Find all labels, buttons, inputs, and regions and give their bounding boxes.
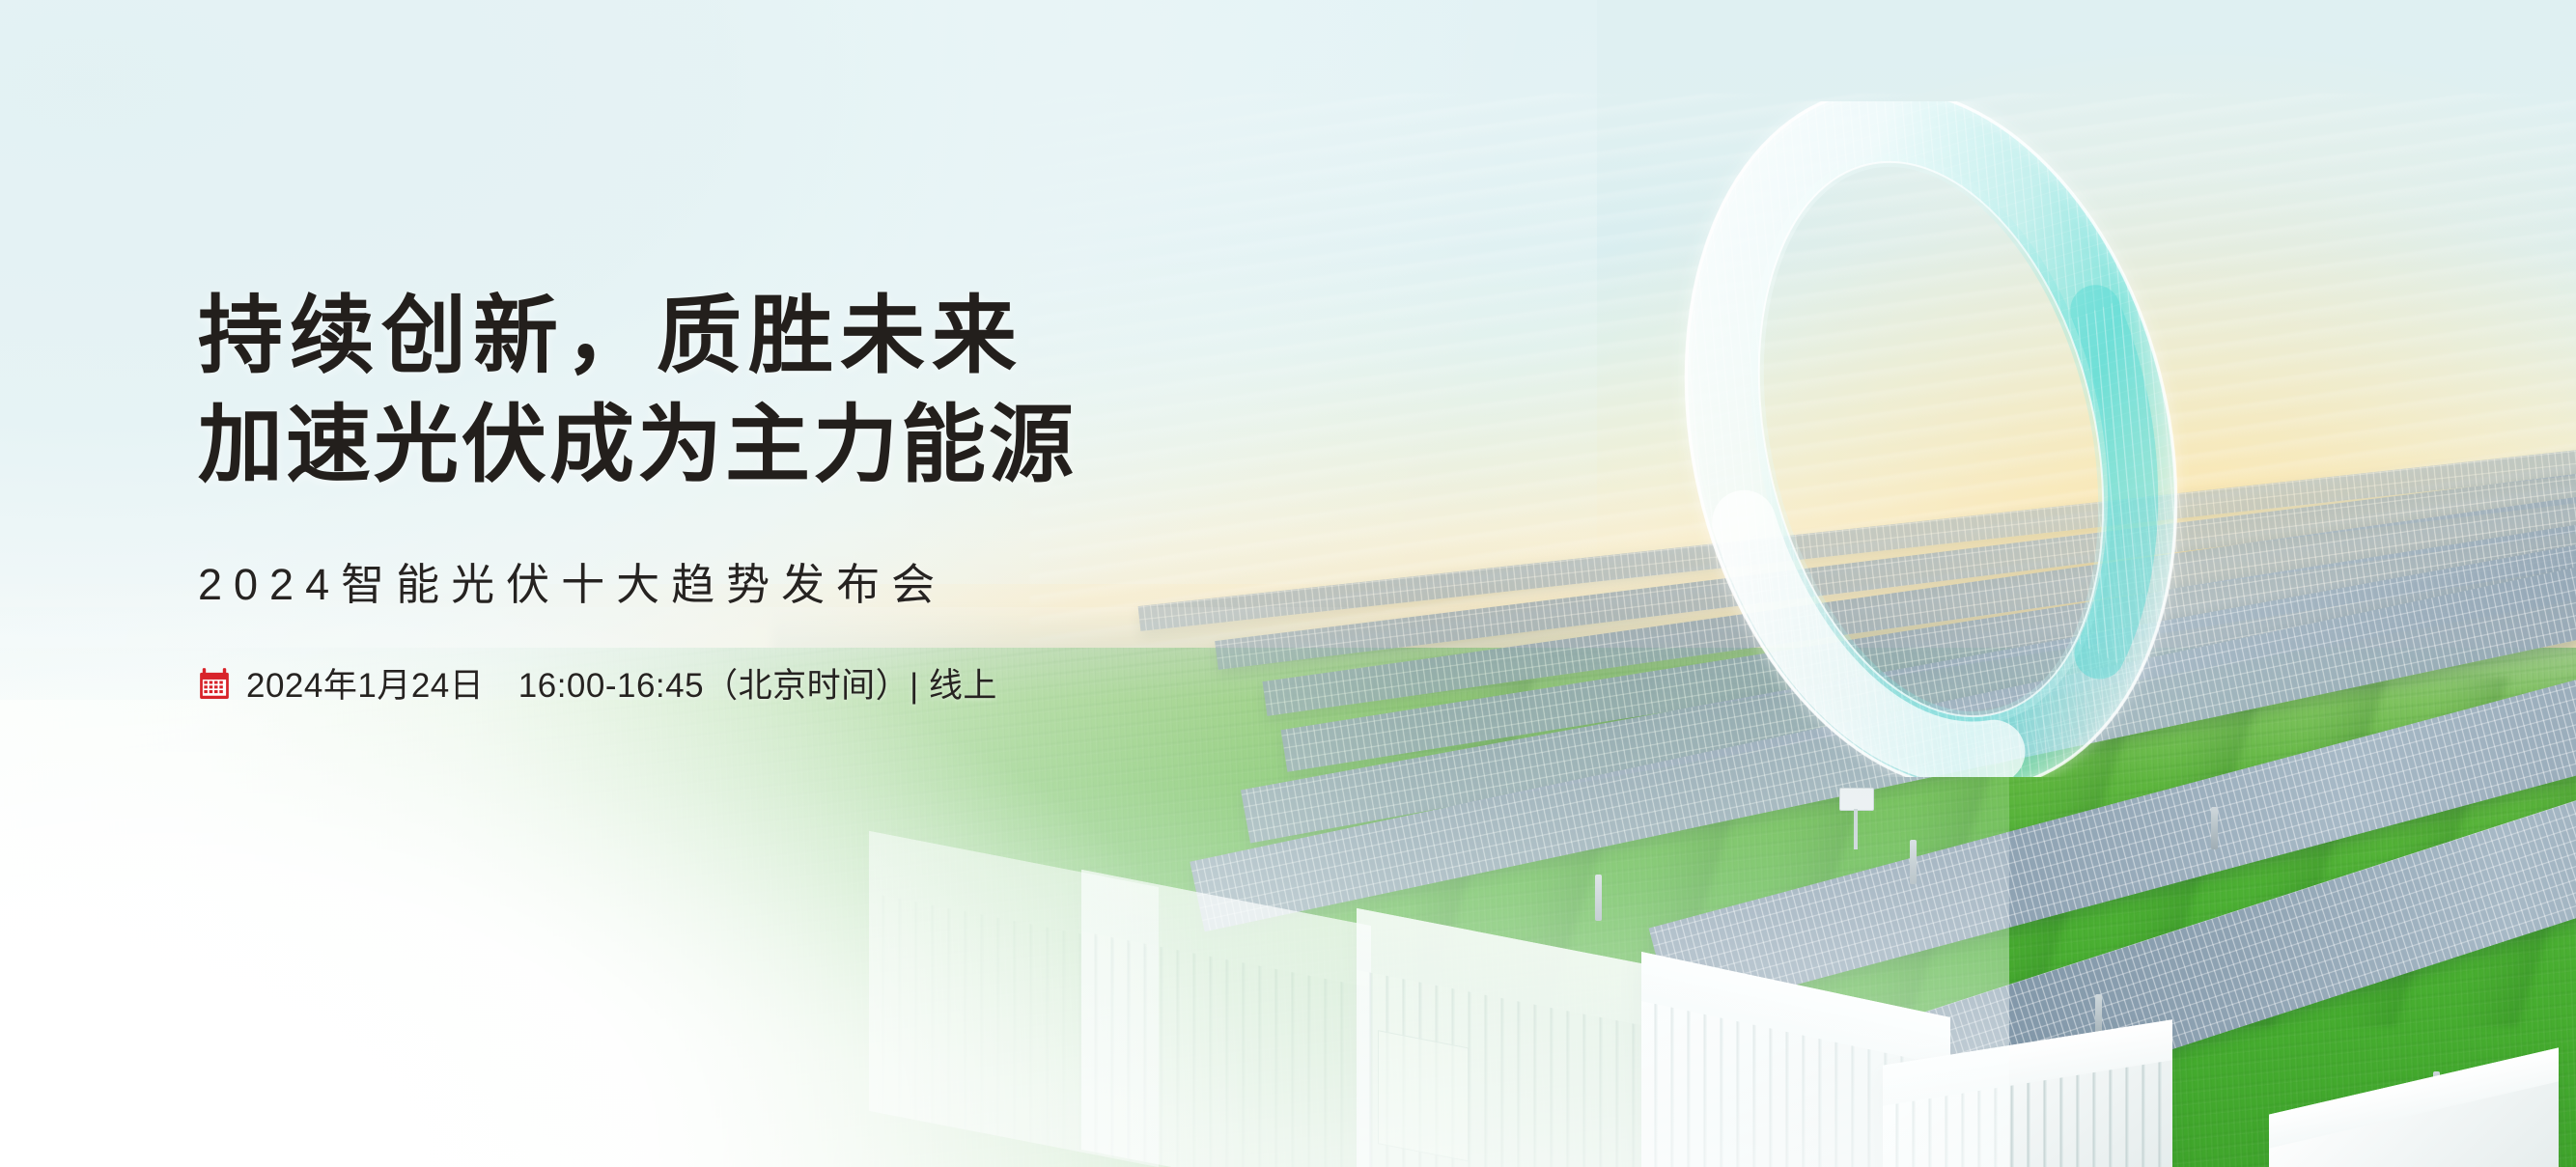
banner-content: 持续创新，质胜未来 加速光伏成为主力能源 2024智能光伏十大趋势发布会 (198, 282, 1405, 708)
event-datetime-venue: 2024年1月24日 16:00-16:45（北京时间）| 线上 (246, 658, 997, 708)
headline-line-1: 持续创新，质胜未来 (198, 288, 1023, 383)
page-title: 持续创新，质胜未来 加速光伏成为主力能源 (198, 282, 1405, 499)
calendar-icon (198, 667, 231, 700)
event-banner: 持续创新，质胜未来 加速光伏成为主力能源 2024智能光伏十大趋势发布会 (0, 0, 2576, 1167)
event-subtitle: 2024智能光伏十大趋势发布会 (198, 549, 1405, 612)
headline-line-2: 加速光伏成为主力能源 (198, 391, 1405, 500)
event-meta: 2024年1月24日 16:00-16:45（北京时间）| 线上 (198, 658, 1405, 708)
